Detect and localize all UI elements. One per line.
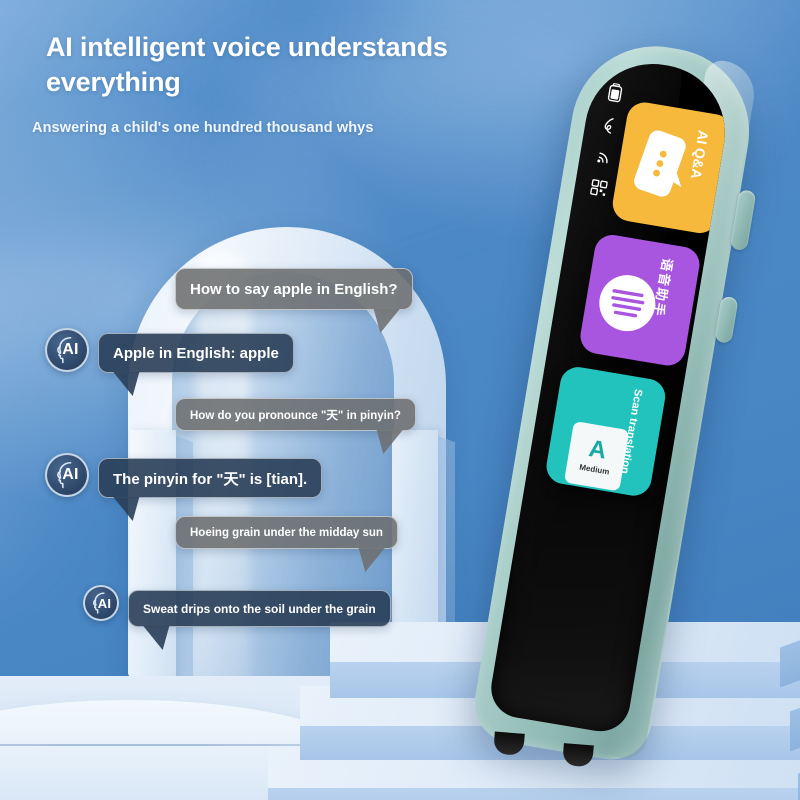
chat-bubble-question: Hoeing grain under the midday sun [175,516,398,549]
bubble-tail [113,372,142,396]
avatar-label: AI [55,466,79,484]
chat-conversation: How to say apple in English? AI Apple in… [0,0,800,800]
chat-text: How do you pronounce "天" in pinyin? [176,407,415,423]
bubble-tail [355,548,384,572]
chat-text: Hoeing grain under the midday sun [176,527,397,539]
bubble-tail [373,430,402,454]
chat-bubble-answer: Apple in English: apple [98,333,294,373]
avatar-label: AI [91,596,112,611]
chat-text: How to say apple in English? [176,281,412,298]
bubble-tail [143,626,172,650]
chat-bubble-question: How to say apple in English? [175,268,413,310]
chat-bubble-answer: The pinyin for "天" is [tian]. [98,458,322,498]
avatar-label: AI [55,341,79,359]
avatar: AI [45,328,89,372]
chat-bubble-answer: Sweat drips onto the soil under the grai… [128,590,391,627]
chat-text: Apple in English: apple [99,345,293,362]
chat-bubble-question: How do you pronounce "天" in pinyin? [175,398,416,431]
avatar: AI [45,453,89,497]
chat-text: The pinyin for "天" is [tian]. [99,468,321,489]
avatar: AI [83,585,119,621]
bubble-tail [370,309,399,333]
promo-stage: AI Q&A 语音助手 [0,0,800,800]
bubble-tail [113,497,142,521]
chat-text: Sweat drips onto the soil under the grai… [129,602,390,616]
